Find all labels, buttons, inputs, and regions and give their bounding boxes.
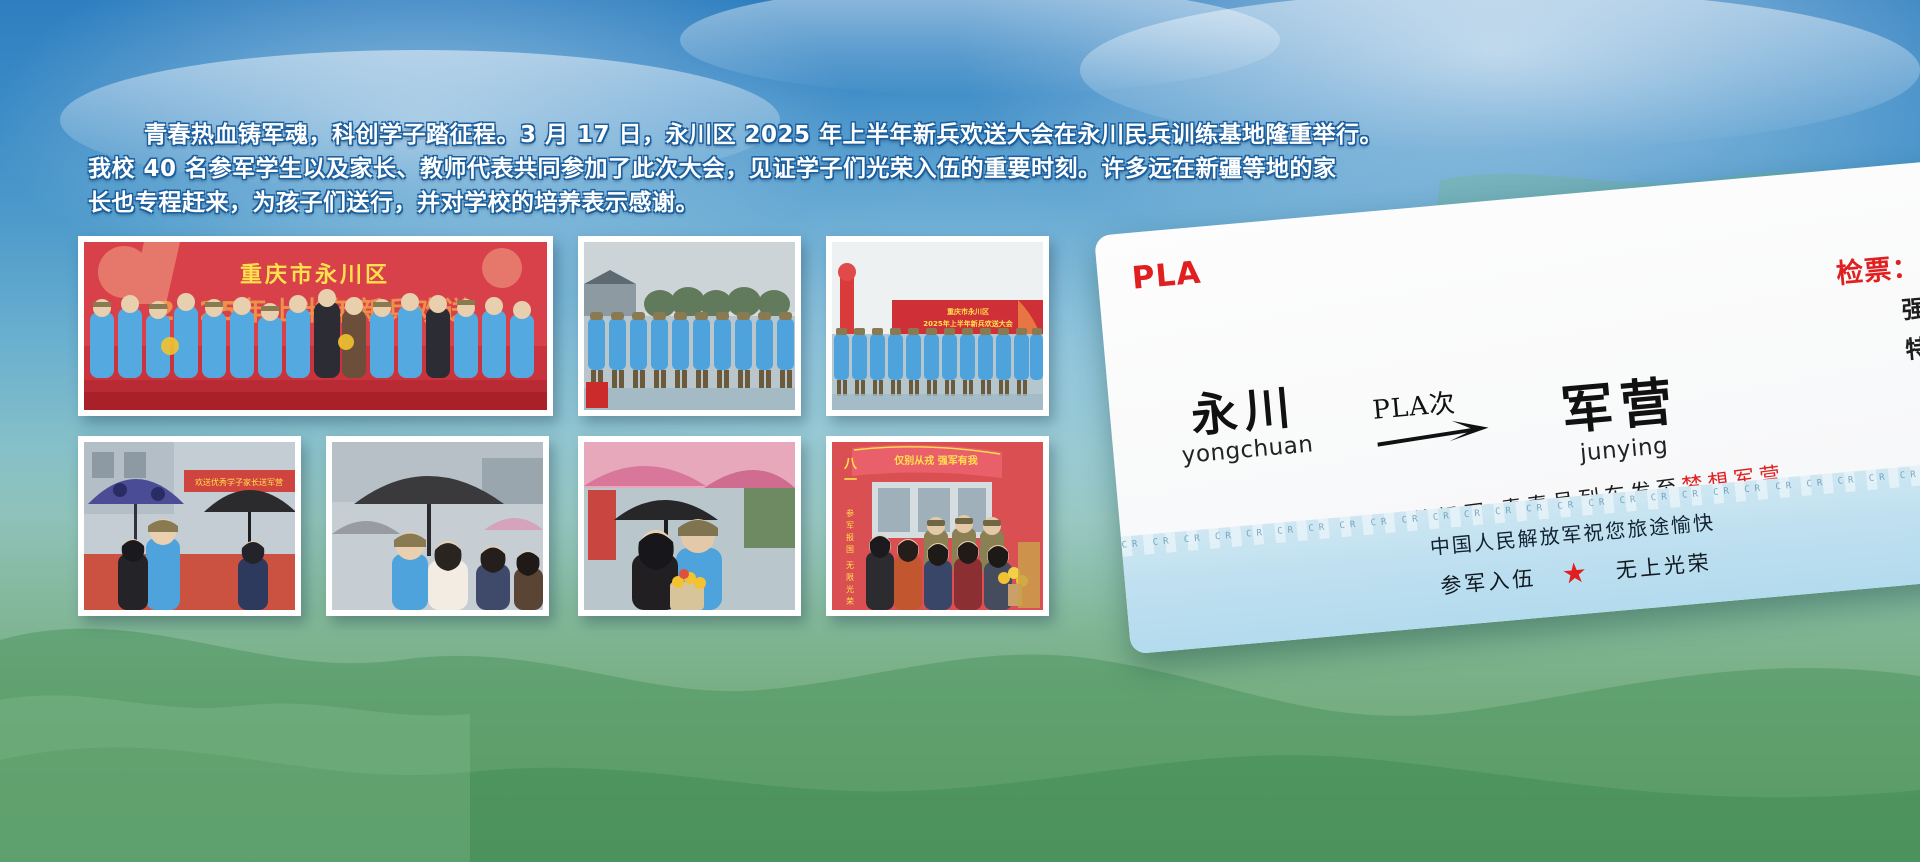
ticket-brand-pla: PLA — [1130, 255, 1202, 297]
headline-line-2: 我校 40 名参军学生以及家长、教师代表共同参加了此次大会，见证学子们光荣入伍的… — [88, 152, 1418, 186]
photo-couple-embrace[interactable] — [578, 436, 801, 616]
svg-text:重庆市永川区: 重庆市永川区 — [947, 307, 989, 316]
photo-formation-stage[interactable]: 重庆市永川区 2025年上半年新兵欢送大会 — [826, 236, 1049, 416]
photo-formation-rain[interactable] — [578, 236, 801, 416]
headline-line-1: 青春热血铸军魂，科创学子踏征程。3 月 17 日，永川区 2025 年上半年新兵… — [88, 118, 1418, 152]
ticket-glory-left: 参军入伍 — [1439, 562, 1537, 600]
svg-text:2025年上半年新兵欢送大会: 2025年上半年新兵欢送大会 — [923, 319, 1013, 328]
headline-paragraph: 青春热血铸军魂，科创学子踏征程。3 月 17 日，永川区 2025 年上半年新兵… — [88, 118, 1418, 220]
ticket-check-label: 检票：祖国 — [1834, 240, 1920, 291]
svg-text:无: 无 — [846, 561, 854, 570]
destination-station-cn: 军营 — [1559, 375, 1681, 440]
svg-text:参: 参 — [846, 508, 854, 518]
svg-text:欢送优秀学子家长送军营: 欢送优秀学子家长送军营 — [195, 477, 283, 487]
svg-text:限: 限 — [846, 573, 854, 582]
svg-text:国: 国 — [846, 545, 854, 554]
photo-group-red-backdrop[interactable]: 仅别从戎 强军有我 八 一 参军报 国无限 光荣 — [826, 436, 1049, 616]
svg-text:光: 光 — [846, 584, 854, 594]
headline-line-3: 长也专程赶来，为孩子们送行，并对学校的培养表示感谢。 — [88, 186, 1418, 220]
star-icon: ★ — [1561, 558, 1591, 588]
ticket-origin-station: 永川 yongchuan — [1176, 382, 1314, 470]
svg-text:荣: 荣 — [846, 596, 854, 606]
svg-text:报: 报 — [846, 532, 854, 542]
photo-couple-umbrella-blue[interactable]: 欢送优秀学子家长送军营 — [78, 436, 301, 616]
train-ticket[interactable]: PLA 检票：祖国 强军号 特等座 永川 yongchuan PLA次 军营 j… — [1094, 156, 1920, 654]
svg-text:重庆市永川区: 重庆市永川区 — [240, 262, 390, 288]
svg-text:八: 八 — [843, 457, 858, 472]
svg-text:仅别从戎 强军有我: 仅别从戎 强军有我 — [893, 454, 977, 467]
svg-text:军: 军 — [846, 521, 854, 530]
svg-text:一: 一 — [844, 473, 857, 488]
photo-family-umbrella-black[interactable] — [326, 436, 549, 616]
ticket-destination-station: 军营 junying — [1559, 375, 1684, 468]
photo-group-photo-banner[interactable]: 重庆市永川区 2025年上半年新兵欢送 — [78, 236, 553, 416]
ticket-glory-right: 无上光荣 — [1614, 546, 1712, 584]
